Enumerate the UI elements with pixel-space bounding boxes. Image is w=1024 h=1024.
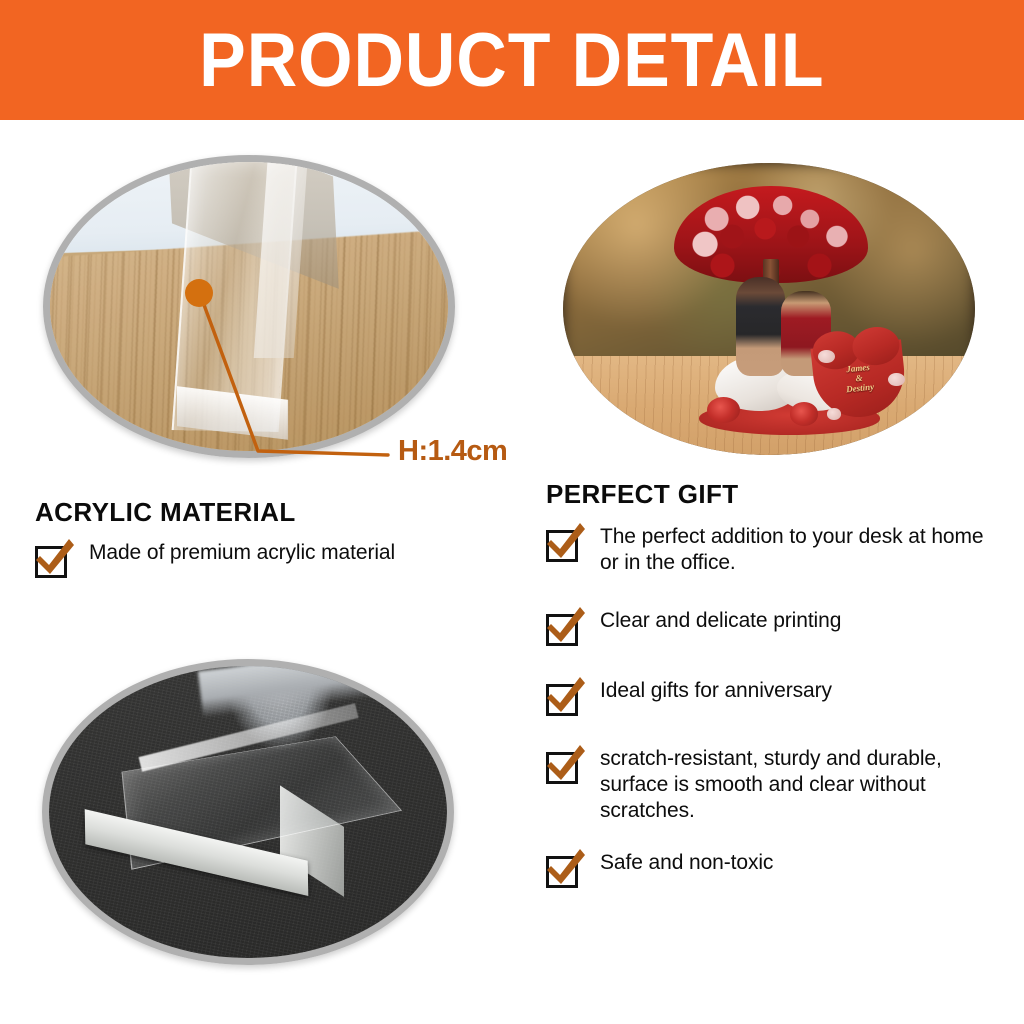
check-icon — [544, 844, 588, 886]
check-icon — [544, 740, 588, 782]
accent-rose-right — [790, 402, 819, 425]
checkbox-checked[interactable] — [546, 680, 582, 716]
list-item: Safe and non-toxic — [546, 850, 1006, 888]
check-icon — [544, 518, 588, 560]
checkbox-checked[interactable] — [546, 748, 582, 784]
acrylic-block-scene — [49, 666, 447, 958]
check-icon — [544, 602, 588, 644]
checkbox-checked[interactable] — [546, 852, 582, 888]
measurement-callout: H:1.4cm — [180, 275, 530, 495]
figurine-woman — [736, 277, 785, 376]
list-item: Clear and delicate printing — [546, 608, 1006, 646]
list-item-label: The perfect addition to your desk at hom… — [600, 524, 990, 576]
list-item-label: Safe and non-toxic — [600, 850, 773, 876]
checkbox-checked[interactable] — [546, 526, 582, 562]
pearl-accent-3 — [827, 408, 841, 420]
list-item-label: scratch-resistant, sturdy and durable, s… — [600, 746, 1004, 824]
page-header-banner: PRODUCT DETAIL — [0, 0, 1024, 120]
accent-rose-left — [707, 397, 740, 423]
checkbox-checked[interactable] — [546, 610, 582, 646]
acrylic-block-photo — [42, 659, 454, 965]
product-scene: James & Destiny — [563, 163, 975, 455]
product-photo: James & Destiny — [563, 163, 975, 455]
section-heading-perfect-gift: PERFECT GIFT — [546, 479, 739, 510]
list-item-label: Clear and delicate printing — [600, 608, 841, 634]
list-item: Ideal gifts for anniversary — [546, 678, 1006, 716]
measurement-label: H:1.4cm — [398, 435, 507, 468]
page-title: PRODUCT DETAIL — [199, 23, 824, 99]
list-item: Made of premium acrylic material — [35, 540, 515, 578]
list-item: The perfect addition to your desk at hom… — [546, 524, 1006, 576]
pearl-accent-1 — [818, 350, 834, 363]
check-icon — [544, 672, 588, 714]
list-item-label: Ideal gifts for anniversary — [600, 678, 832, 704]
list-item: scratch-resistant, sturdy and durable, s… — [546, 746, 1006, 824]
feature-list-acrylic-material: Made of premium acrylic material — [35, 540, 515, 578]
list-item-label: Made of premium acrylic material — [89, 540, 395, 566]
check-icon — [33, 534, 77, 576]
checkbox-checked[interactable] — [35, 542, 71, 578]
measurement-dot-icon — [185, 279, 213, 307]
section-heading-acrylic-material: ACRYLIC MATERIAL — [35, 497, 296, 528]
feature-list-perfect-gift: The perfect addition to your desk at hom… — [546, 524, 1006, 888]
